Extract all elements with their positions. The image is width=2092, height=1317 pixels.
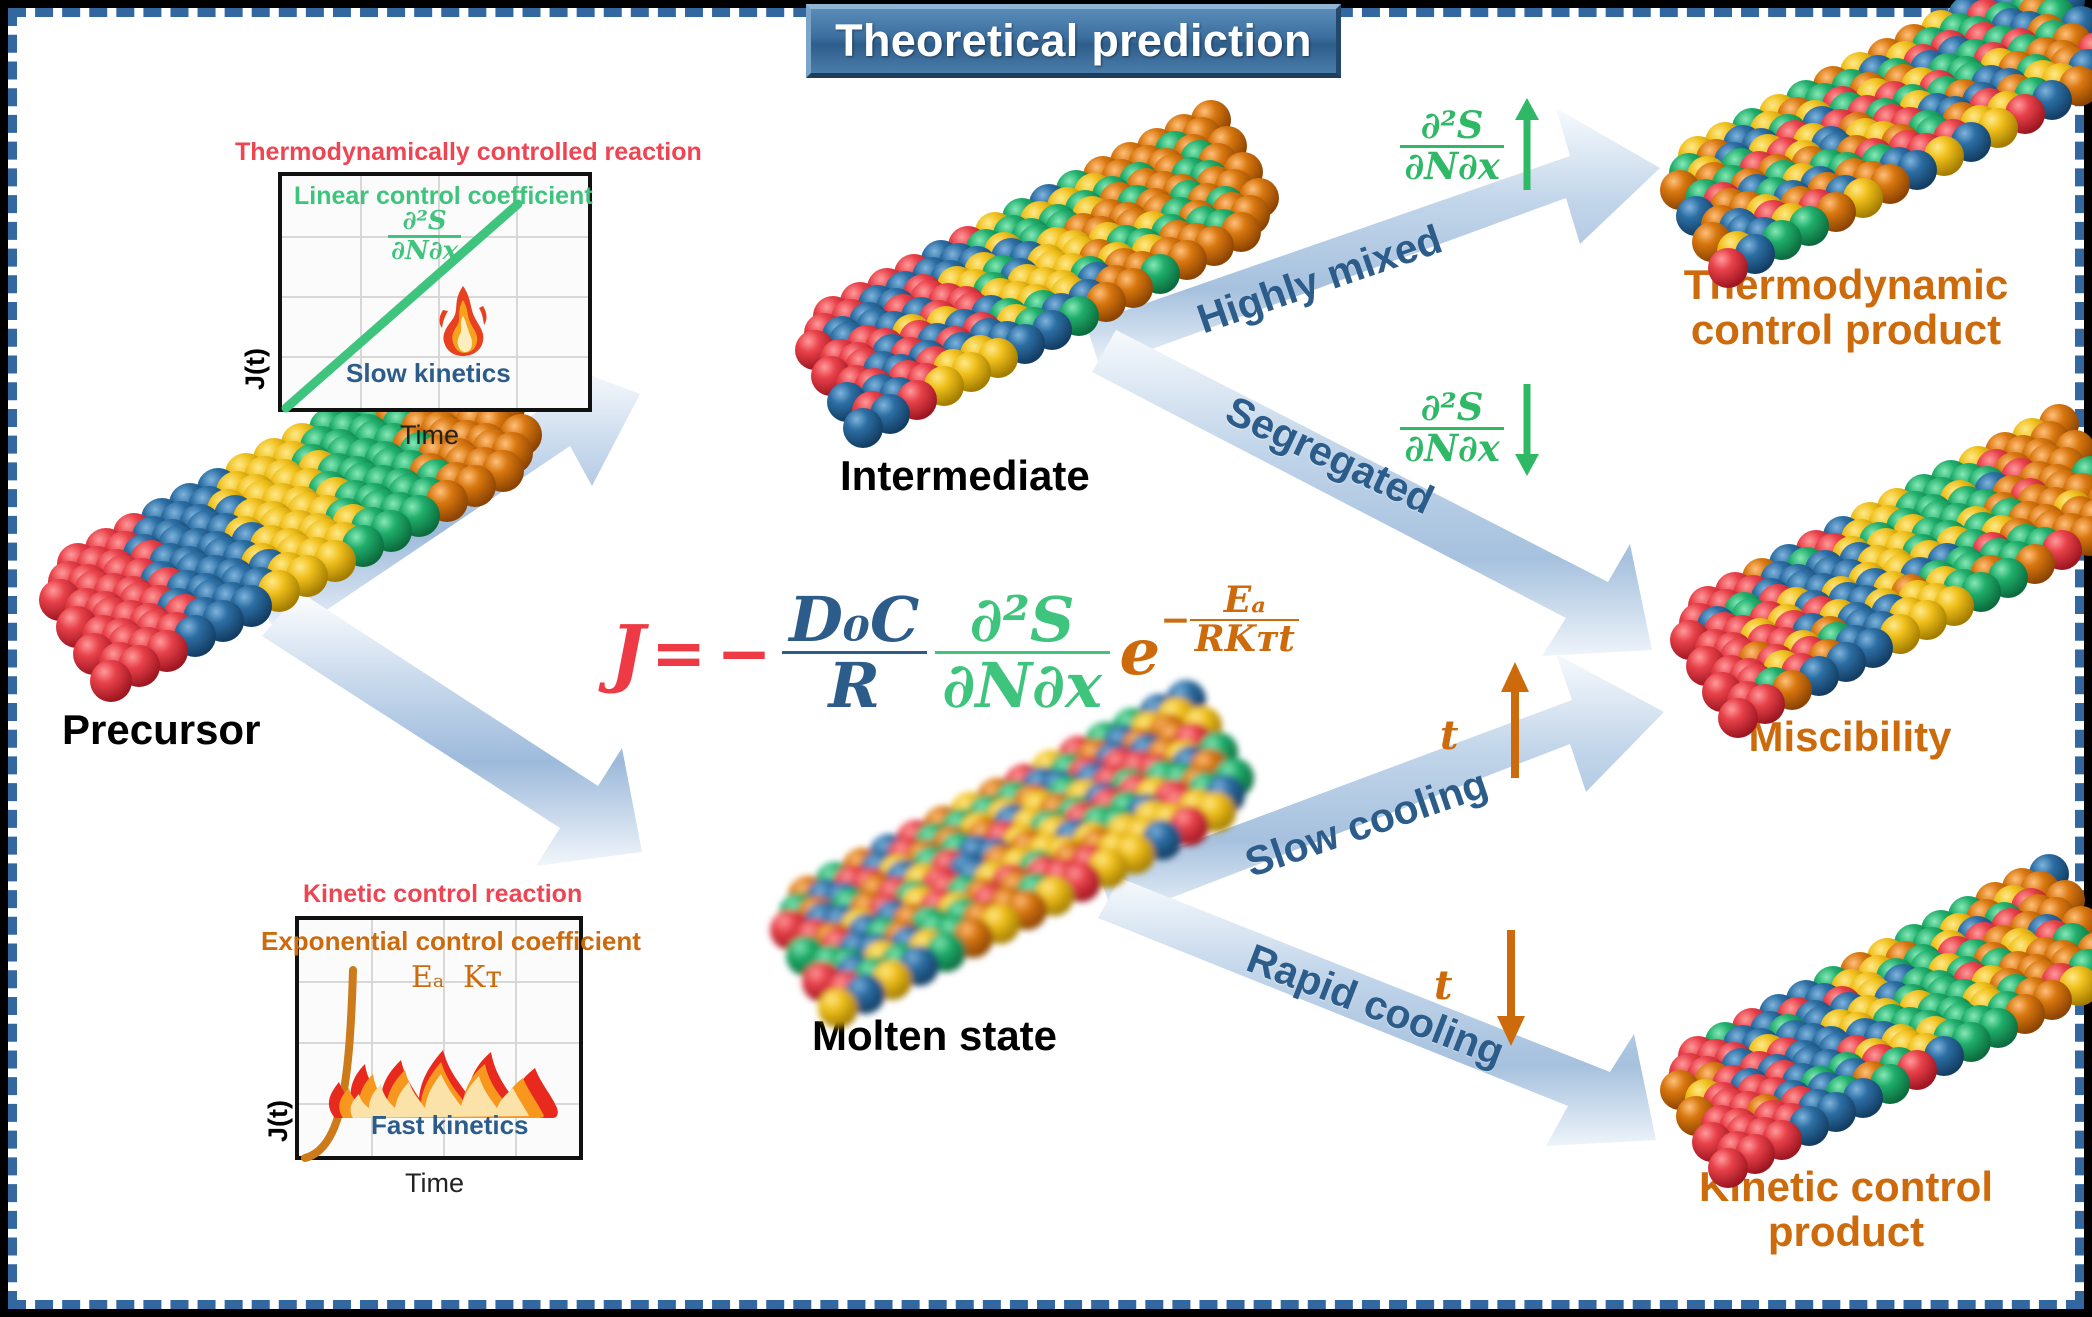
- down-arrow-icon: [1514, 380, 1540, 476]
- arrhenius-numerator: Eₐ: [1190, 582, 1299, 619]
- equation-lhs: J: [610, 610, 645, 696]
- entropy-annotation-down: ∂²S ∂N∂x: [1400, 380, 1540, 476]
- time-up-arrow-icon: [1500, 662, 1530, 782]
- time-label-rapid: t: [1434, 962, 1452, 1009]
- inset-plot-area-thermodynamic: Linear control coefficient ∂²S ∂N∂x Slow…: [278, 172, 592, 412]
- equation-entropy-denominator: ∂N∂x: [935, 651, 1110, 717]
- equation-exponent: − Eₐ RKᴛt: [1160, 582, 1299, 657]
- inset-title-thermodynamic: Thermodynamically controlled reaction: [235, 138, 702, 167]
- time-down-arrow-icon: [1496, 928, 1526, 1048]
- equation-exponential-base: e: [1120, 615, 1161, 690]
- equation-minus: −: [716, 614, 771, 692]
- entropy-fraction: ∂²S ∂N∂x: [1400, 389, 1504, 467]
- kinetic-inset-chart: Kinetic control reaction J(t) Exponentia…: [255, 880, 675, 1220]
- figure-canvas: Theoretical prediction: [0, 0, 2092, 1317]
- arrhenius-fraction: Eₐ RKᴛt: [1190, 582, 1299, 657]
- equation-entropy-fraction: ∂²S ∂N∂x: [935, 588, 1110, 717]
- inset-kinetics-note: Fast kinetics: [371, 1110, 529, 1141]
- entropy-numerator: ∂²S: [1400, 389, 1504, 427]
- exponent-minus: −: [1160, 599, 1190, 641]
- title-text: Theoretical prediction: [835, 15, 1312, 67]
- inset-xlabel-thermodynamic: Time: [400, 420, 459, 451]
- inset-symbol-kt: Kᴛ: [463, 960, 502, 995]
- inset-ylabel-kinetic: J(t): [263, 1100, 294, 1142]
- diffusion-numerator: D₀C: [782, 588, 927, 651]
- inset-kinetics-note: Slow kinetics: [346, 358, 511, 389]
- entropy-fraction: ∂²S ∂N∂x: [1400, 107, 1504, 185]
- inset-title-kinetic: Kinetic control reaction: [303, 880, 582, 909]
- equation-equals: =: [651, 614, 706, 692]
- time-label-slow: t: [1440, 712, 1458, 759]
- entropy-denominator: ∂N∂x: [1400, 145, 1504, 186]
- inset-plot-area-kinetic: Exponential control coefficient Eₐ Kᴛ Fa…: [295, 916, 583, 1160]
- title-banner: Theoretical prediction: [806, 4, 1341, 78]
- diffusion-denominator: R: [782, 651, 927, 717]
- thermodynamic-inset-chart: Thermodynamically controlled reaction J(…: [230, 130, 650, 460]
- inset-ylabel-thermodynamic: J(t): [240, 348, 271, 390]
- inset-coefficient-label: Exponential control coefficient: [261, 926, 641, 957]
- master-equation: J = − D₀C R ∂²S ∂N∂x e − Eₐ RKᴛt: [610, 588, 1299, 717]
- equation-entropy-numerator: ∂²S: [935, 588, 1110, 651]
- inset-xlabel-kinetic: Time: [405, 1168, 464, 1199]
- inset-coef-denominator: ∂N∂x: [388, 235, 461, 265]
- inset-symbol-ea: Eₐ: [411, 960, 444, 995]
- flame-icon: [317, 1008, 569, 1120]
- diffusion-fraction: D₀C R: [782, 588, 927, 717]
- inset-coefficient-formula: ∂²S ∂N∂x: [388, 208, 461, 264]
- inset-coef-numerator: ∂²S: [388, 208, 461, 235]
- up-arrow-icon: [1514, 98, 1540, 194]
- entropy-denominator: ∂N∂x: [1400, 427, 1504, 468]
- entropy-annotation-up: ∂²S ∂N∂x: [1400, 98, 1540, 194]
- flame-icon: [430, 284, 496, 358]
- arrhenius-denominator: RKᴛt: [1190, 619, 1299, 658]
- entropy-numerator: ∂²S: [1400, 107, 1504, 145]
